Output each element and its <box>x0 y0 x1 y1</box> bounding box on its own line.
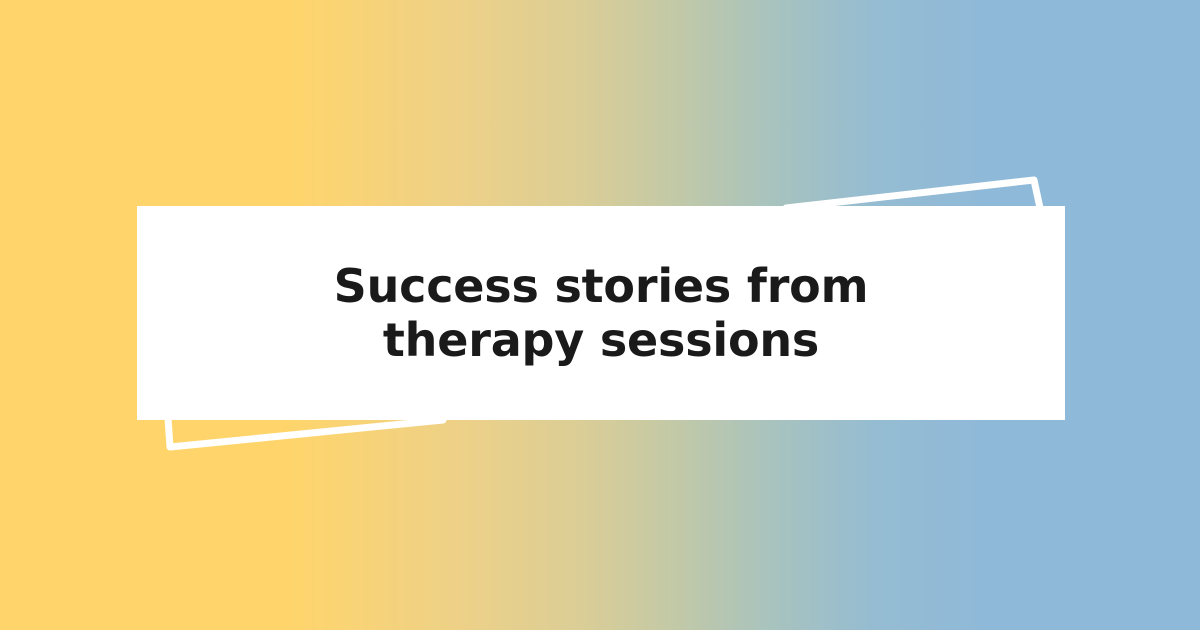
promo-banner: Success stories from therapy sessions <box>0 0 1200 630</box>
title-card: Success stories from therapy sessions <box>137 206 1065 420</box>
page-title: Success stories from therapy sessions <box>281 259 921 368</box>
